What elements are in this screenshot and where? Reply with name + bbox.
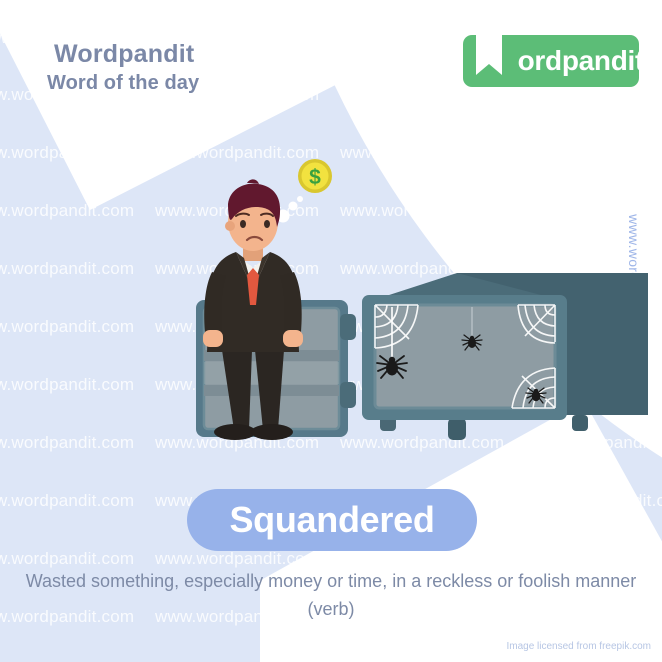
brand-title: Wordpandit	[54, 40, 199, 69]
word-term: Squandered	[229, 499, 434, 541]
word-of-the-day-banner: Squandered	[187, 489, 477, 551]
image-credit: Image licensed from freepik.com	[506, 641, 651, 652]
word-definition: Wasted something, especially money or ti…	[22, 568, 640, 624]
thought-bubble-dots	[277, 196, 304, 223]
svg-text:$: $	[309, 166, 321, 189]
illustration-empty-safe: $	[0, 0, 662, 662]
page-subtitle: Word of the day	[47, 72, 199, 95]
dollar-coin-icon: $	[298, 159, 332, 193]
word-of-the-day-card: www.wordpandit.comwww.wordpandit.comwww.…	[0, 0, 662, 662]
logo-text-value: ordpandit	[518, 45, 644, 76]
header-block: Wordpandit Word of the day	[47, 40, 199, 95]
logo-text: Wordpandit	[492, 45, 644, 77]
wordpandit-logo[interactable]: Wordpandit	[463, 35, 639, 87]
